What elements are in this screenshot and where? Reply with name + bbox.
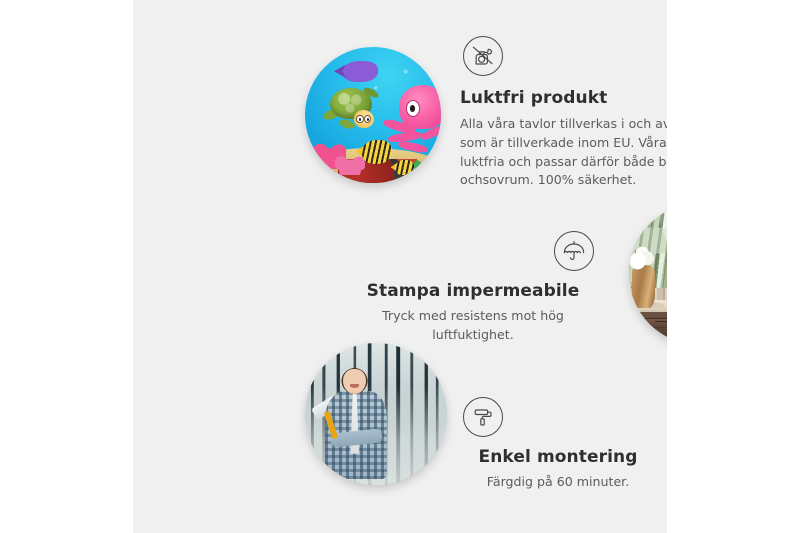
feature-title: Stampa impermeabile: [348, 281, 598, 301]
flowers: [629, 246, 660, 274]
feature-description: Färgdig på 60 minuter.: [433, 473, 667, 492]
painter-forest-artwork: [305, 343, 447, 485]
bathroom-scene-image[interactable]: [629, 203, 667, 345]
purple-fish-illustration: [343, 61, 378, 83]
feature-description: Tryck med resistens mot hög luftfuktighe…: [348, 307, 598, 344]
feature-waterproof-print: Stampa impermeabile Tryck med resistens …: [348, 231, 598, 345]
vanity-cabinet: [629, 312, 667, 345]
painter-forest-scene-image[interactable]: [305, 343, 447, 485]
feature-odour-free: Luktfri produkt Alla våra tavlor tillver…: [460, 36, 667, 190]
feature-title: Enkel montering: [433, 447, 667, 467]
bathroom-artwork: [629, 203, 667, 345]
seagrass-illustration: [411, 137, 433, 178]
feature-easy-mounting: Enkel montering Färgdig på 60 minuter.: [433, 397, 667, 492]
underwater-scene-image[interactable]: [305, 47, 441, 183]
no-fragrance-icon: [463, 36, 503, 76]
underwater-artwork: [305, 47, 441, 183]
paint-roller-icon: [463, 397, 503, 437]
small-fish-illustration: [395, 160, 414, 175]
content-panel: Luktfri produkt Alla våra tavlor tillver…: [133, 0, 667, 533]
butterflyfish-illustration: [362, 140, 392, 164]
turtle-illustration: [321, 88, 381, 134]
feature-description: Alla våra tavlor tillverkas i och av pro…: [460, 115, 667, 190]
feature-title: Luktfri produkt: [460, 88, 667, 108]
umbrella-icon: [554, 231, 594, 271]
person-smile: [350, 384, 359, 388]
screenshot-stage: Luktfri produkt Alla våra tavlor tillver…: [0, 0, 800, 533]
